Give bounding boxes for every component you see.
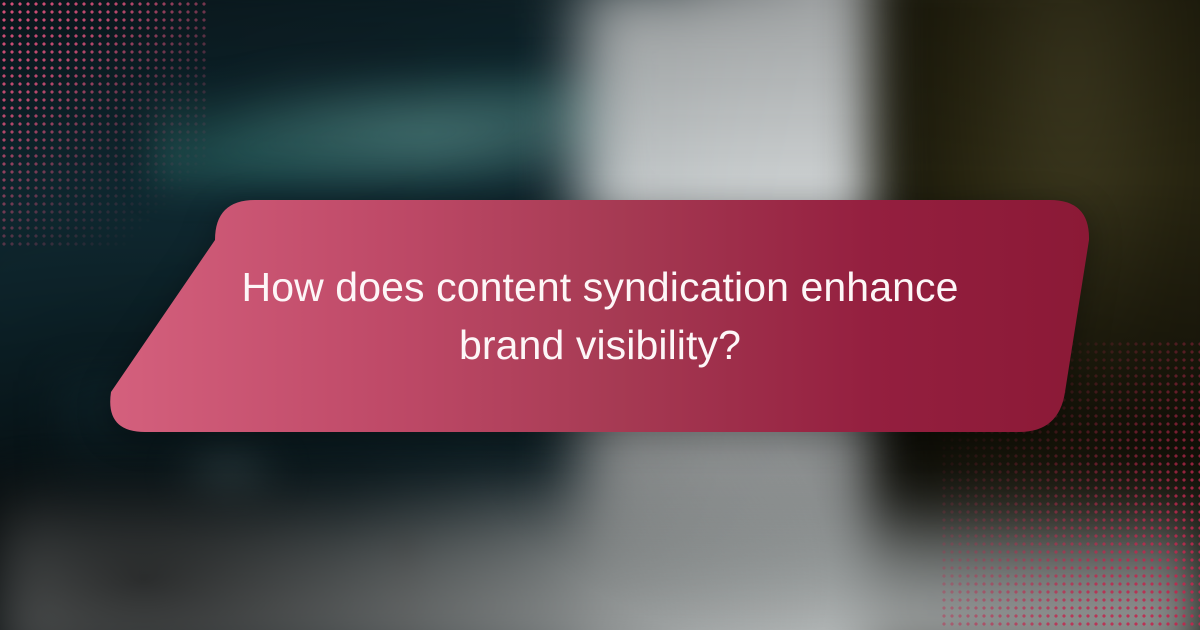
social-share-card: How does content syndication enhance bra… (0, 0, 1200, 630)
headline-container: How does content syndication enhance bra… (90, 196, 1110, 436)
headline-banner: How does content syndication enhance bra… (90, 196, 1110, 436)
headline-text: How does content syndication enhance bra… (205, 258, 995, 374)
